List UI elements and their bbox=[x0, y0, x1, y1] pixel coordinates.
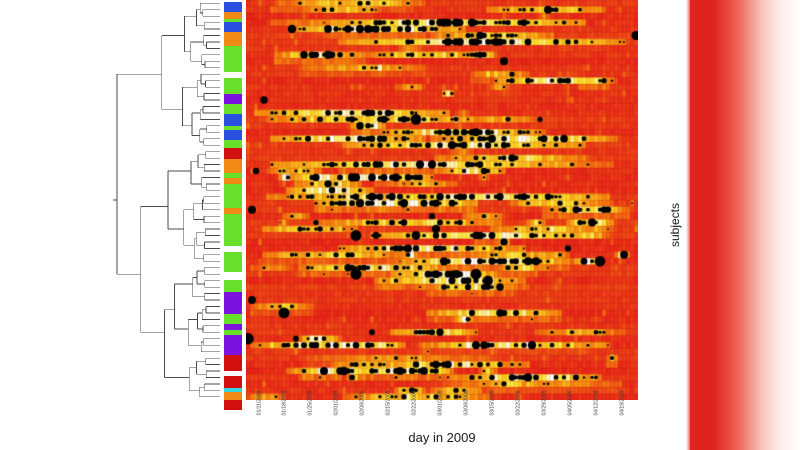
right-red-gradient-band bbox=[690, 0, 800, 450]
x-axis-tick-label-text: 03/22/2009 bbox=[516, 390, 522, 415]
x-axis-tick-label-text: 04/05/2009 bbox=[568, 390, 574, 415]
x-axis-tick-labels: 01/11/200901/18/200901/25/200902/01/2009… bbox=[246, 400, 638, 428]
annotation-band bbox=[224, 314, 242, 324]
x-axis-tick-label-text: 04/12/2009 bbox=[594, 390, 600, 415]
annotation-band bbox=[224, 94, 242, 104]
annotation-band bbox=[224, 355, 242, 371]
y-axis-title-text: subjects bbox=[668, 203, 682, 247]
annotation-band bbox=[224, 280, 242, 292]
x-axis-tick-label: 04/05/2009 bbox=[557, 400, 585, 428]
x-axis-tick-label: 04/12/2009 bbox=[583, 400, 611, 428]
x-axis-tick-label-text: 03/08/2009 bbox=[464, 390, 470, 415]
annotation-band bbox=[224, 184, 242, 208]
x-axis-tick-label-text: 02/22/2009 bbox=[412, 390, 418, 415]
x-axis-tick-label: 02/15/2009 bbox=[375, 400, 403, 428]
annotation-band bbox=[224, 214, 242, 246]
annotation-band bbox=[224, 252, 242, 272]
heatmap-canvas bbox=[246, 0, 638, 400]
x-axis-tick-label: 03/08/2009 bbox=[453, 400, 481, 428]
dendrogram-branches bbox=[113, 3, 220, 397]
annotation-band bbox=[224, 104, 242, 114]
annotation-band bbox=[224, 46, 242, 72]
heatmap-plot bbox=[246, 0, 638, 400]
x-axis-tick-label: 02/08/2009 bbox=[349, 400, 377, 428]
annotation-band bbox=[224, 130, 242, 140]
x-axis-tick-label-text: 01/18/2009 bbox=[282, 390, 288, 415]
x-axis-tick-label: 03/15/2009 bbox=[479, 400, 507, 428]
dendrogram-svg bbox=[110, 0, 222, 400]
x-axis-tick-label: 01/18/2009 bbox=[271, 400, 299, 428]
x-axis-tick-label: 02/22/2009 bbox=[401, 400, 429, 428]
x-axis-tick-label: 01/11/2009 bbox=[245, 400, 273, 428]
x-axis-tick-label-text: 01/25/2009 bbox=[308, 390, 314, 415]
row-dendrogram bbox=[110, 0, 222, 400]
x-axis-tick-label-text: 02/08/2009 bbox=[360, 390, 366, 415]
x-axis-tick-label: 02/01/2009 bbox=[323, 400, 351, 428]
annotation-band bbox=[224, 2, 242, 12]
x-axis-tick-label-text: 03/29/2009 bbox=[542, 390, 548, 415]
x-axis-tick-label-text: 04/19/2009 bbox=[620, 390, 626, 415]
annotation-band bbox=[224, 335, 242, 355]
annotation-band bbox=[224, 140, 242, 148]
row-annotation-colorbar bbox=[224, 0, 242, 400]
x-axis-tick-label: 03/29/2009 bbox=[531, 400, 559, 428]
annotation-band bbox=[224, 78, 242, 94]
x-axis-tick-label-text: 02/01/2009 bbox=[334, 390, 340, 415]
annotation-band bbox=[224, 114, 242, 126]
annotation-band bbox=[224, 148, 242, 159]
annotation-band bbox=[224, 272, 242, 280]
x-axis-tick-label: 03/22/2009 bbox=[505, 400, 533, 428]
annotation-band bbox=[224, 22, 242, 32]
x-axis-tick-label-text: 02/15/2009 bbox=[386, 390, 392, 415]
annotation-band bbox=[224, 12, 242, 19]
annotation-band bbox=[224, 32, 242, 46]
x-axis-tick-label: 03/01/2009 bbox=[427, 400, 455, 428]
annotation-band bbox=[224, 392, 242, 400]
annotation-band bbox=[224, 376, 242, 388]
annotation-band bbox=[224, 292, 242, 314]
x-axis-tick-label: 01/25/2009 bbox=[297, 400, 325, 428]
x-axis-tick-label-text: 03/15/2009 bbox=[490, 390, 496, 415]
annotation-band bbox=[224, 400, 242, 410]
annotation-band bbox=[224, 159, 242, 173]
x-axis-tick-label-text: 01/11/2009 bbox=[256, 391, 262, 416]
x-axis-tick-label-text: 03/01/2009 bbox=[438, 390, 444, 415]
heatmap-figure: 01/11/200901/18/200901/25/200902/01/2009… bbox=[0, 0, 800, 450]
x-axis-title: day in 2009 bbox=[246, 430, 638, 445]
x-axis-tick-label: 04/19/2009 bbox=[609, 400, 637, 428]
